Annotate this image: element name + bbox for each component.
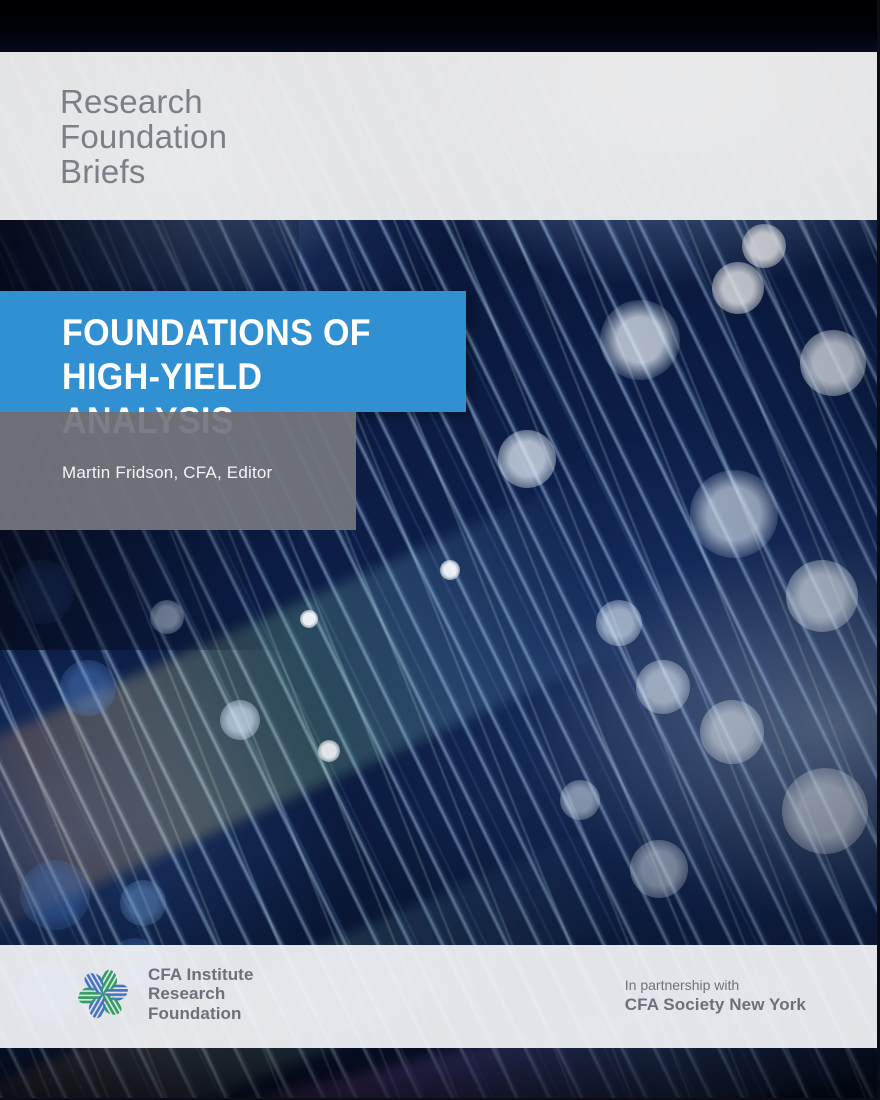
title-band: FOUNDATIONS OF HIGH-YIELD ANALYSIS (0, 291, 466, 412)
author-band: Martin Fridson, CFA, Editor (0, 412, 356, 530)
author-editor-name: Martin Fridson, CFA, Editor (62, 463, 272, 483)
photo-top-shadow (0, 0, 880, 52)
cfa-pinwheel-icon (72, 963, 134, 1025)
publisher-name: CFA Institute Research Foundation (148, 965, 254, 1024)
partnership-prefix: In partnership with (625, 976, 806, 994)
partnership-group: In partnership with CFA Society New York (625, 976, 806, 1015)
book-cover: Research Foundation Briefs FOUNDATIONS O… (0, 0, 880, 1100)
partner-organization: CFA Society New York (625, 994, 806, 1015)
series-label: Research Foundation Briefs (60, 84, 227, 189)
publisher-logo-group: CFA Institute Research Foundation (72, 963, 254, 1025)
footer-band: CFA Institute Research Foundation In par… (0, 945, 880, 1048)
series-header-band: Research Foundation Briefs (0, 52, 880, 220)
